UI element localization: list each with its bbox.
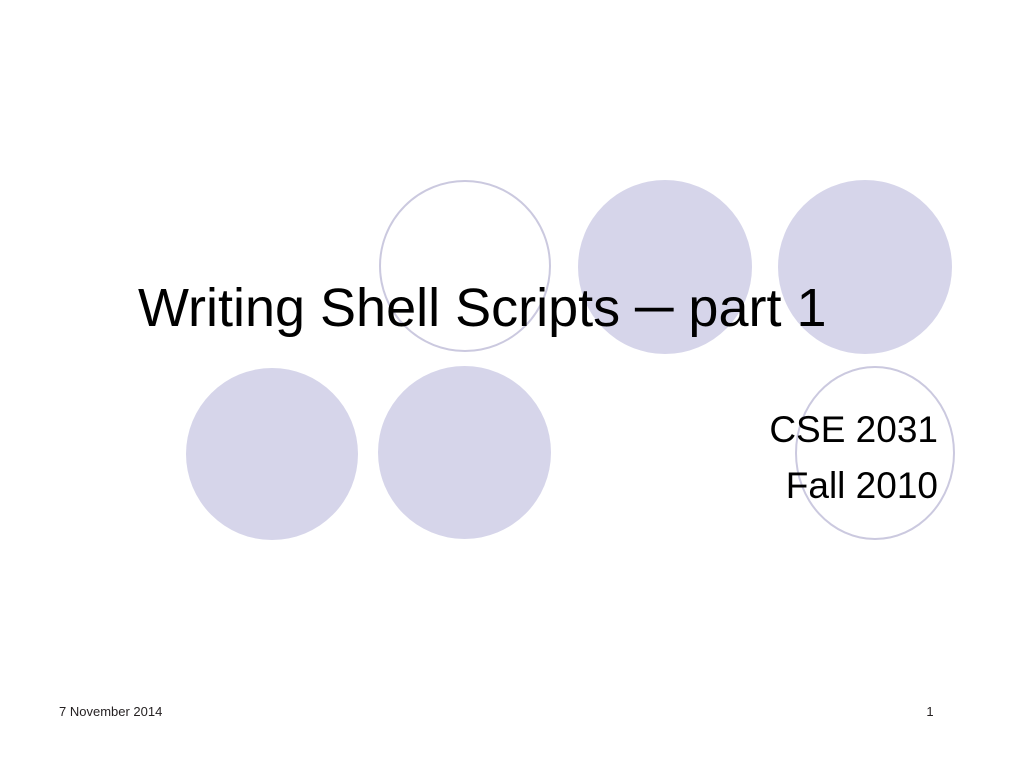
- title-placeholder: Writing Shell Scripts ─ part 1: [138, 277, 948, 339]
- subtitle-line-course: CSE 2031: [520, 402, 938, 458]
- presentation-slide: Writing Shell Scripts ─ part 1 CSE 2031 …: [0, 0, 1024, 768]
- subtitle-placeholder: CSE 2031 Fall 2010: [520, 402, 938, 514]
- slide-page-number: 1: [900, 704, 960, 719]
- subtitle-line-term: Fall 2010: [520, 458, 938, 514]
- slide-content: Writing Shell Scripts ─ part 1 CSE 2031 …: [0, 0, 1024, 768]
- footer-date: 7 November 2014: [59, 704, 162, 719]
- slide-title: Writing Shell Scripts ─ part 1: [138, 277, 948, 339]
